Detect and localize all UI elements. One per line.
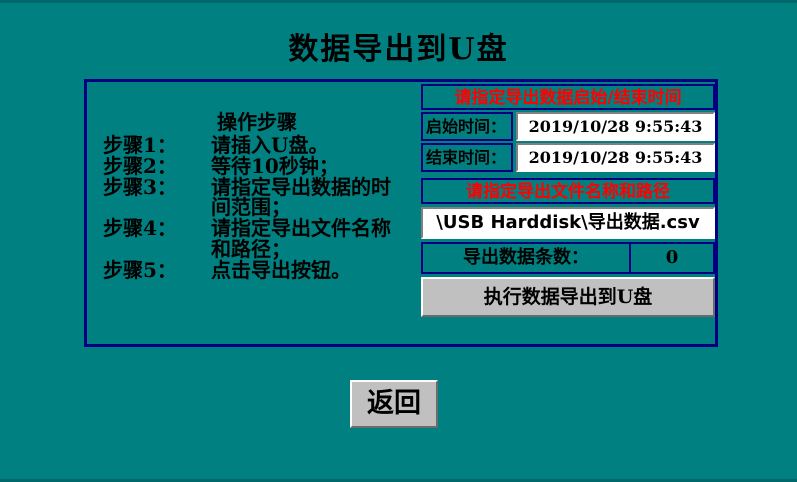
step-item-5: 步骤5： 点击导出按钮。 <box>103 260 415 281</box>
step-text: 间范围； <box>211 197 415 218</box>
step-item-3: 步骤3： 请指定导出数据的时 <box>103 177 415 198</box>
step-item-4-cont: 和路径； <box>103 239 415 260</box>
step-item-3-cont: 间范围； <box>103 197 415 218</box>
screen-top-edge <box>0 0 797 3</box>
step-item-1: 步骤1： 请插入U盘。 <box>103 135 415 156</box>
start-time-label: 启始时间： <box>421 112 513 141</box>
step-label: 步骤4： <box>103 218 211 239</box>
back-button[interactable]: 返回 <box>350 380 438 428</box>
file-path-header: 请指定导出文件名称和路径 <box>421 178 715 204</box>
start-time-row: 启始时间： 2019/10/28 9:55:43 <box>421 112 715 141</box>
export-count-value: 0 <box>631 242 715 274</box>
step-text: 请指定导出数据的时 <box>211 177 415 198</box>
start-time-input[interactable]: 2019/10/28 9:55:43 <box>516 112 715 141</box>
step-text: 和路径； <box>211 239 415 260</box>
execute-export-button[interactable]: 执行数据导出到U盘 <box>421 277 715 317</box>
end-time-row: 结束时间： 2019/10/28 9:55:43 <box>421 143 715 172</box>
file-path-input[interactable]: \USB Harddisk\导出数据.csv <box>421 207 715 239</box>
step-text: 请指定导出文件名称 <box>211 218 415 239</box>
export-count-row: 导出数据条数： 0 <box>421 242 715 274</box>
step-label <box>103 197 211 218</box>
end-time-label: 结束时间： <box>421 143 513 172</box>
end-time-input[interactable]: 2019/10/28 9:55:43 <box>516 143 715 172</box>
step-label: 步骤3： <box>103 177 211 198</box>
step-item-4: 步骤4： 请指定导出文件名称 <box>103 218 415 239</box>
step-label <box>103 239 211 260</box>
export-settings-panel: 请指定导出数据启始/结束时间 启始时间： 2019/10/28 9:55:43 … <box>421 84 715 342</box>
step-label: 步骤5： <box>103 260 211 281</box>
page-title: 数据导出到U盘 <box>0 24 797 68</box>
main-panel: 操作步骤 步骤1： 请插入U盘。 步骤2： 等待10秒钟； 步骤3： 请指定导出… <box>84 79 718 347</box>
step-label: 步骤1： <box>103 135 211 156</box>
step-text: 请插入U盘。 <box>211 135 415 156</box>
step-label: 步骤2： <box>103 156 211 177</box>
steps-heading: 操作步骤 <box>99 106 415 135</box>
operation-steps-panel: 操作步骤 步骤1： 请插入U盘。 步骤2： 等待10秒钟； 步骤3： 请指定导出… <box>87 82 415 344</box>
step-text: 等待10秒钟； <box>211 156 415 177</box>
step-text: 点击导出按钮。 <box>211 260 415 281</box>
step-item-2: 步骤2： 等待10秒钟； <box>103 156 415 177</box>
export-count-label: 导出数据条数： <box>421 242 631 274</box>
time-range-header: 请指定导出数据启始/结束时间 <box>421 84 715 110</box>
